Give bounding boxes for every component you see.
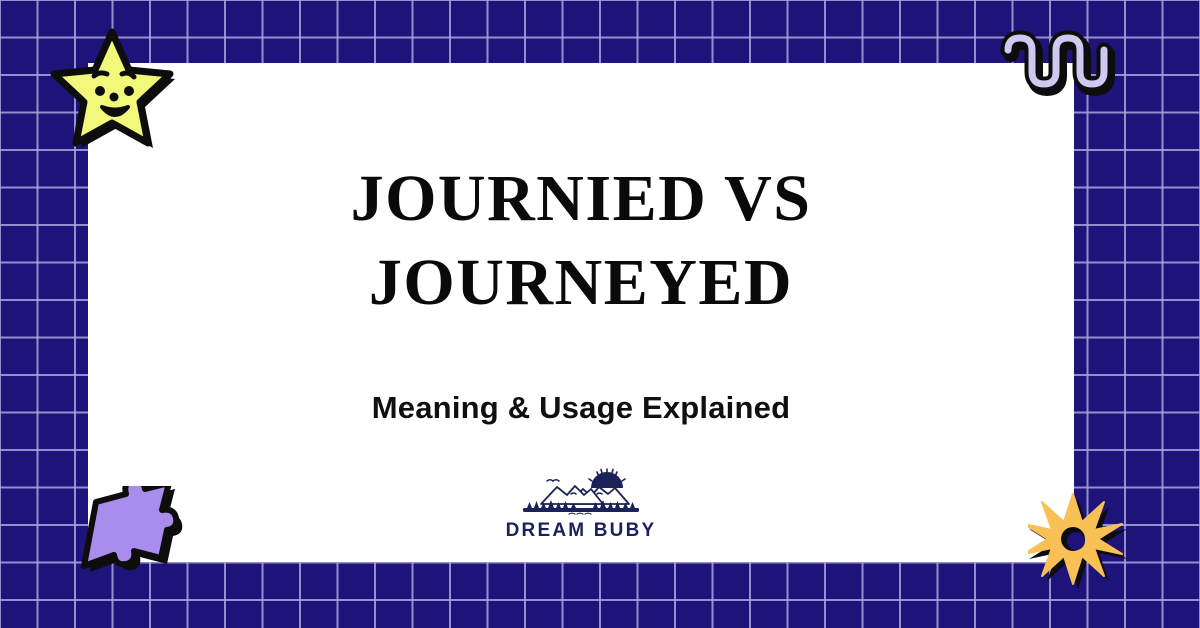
page-subtitle: Meaning & Usage Explained <box>88 390 1074 426</box>
eight-point-burst-icon <box>1028 492 1128 590</box>
brand-logo: DREAM BUBY <box>496 467 666 542</box>
mountain-sunrise-logo-icon <box>511 467 651 519</box>
share-card-canvas: JOURNIED VS JOURNEYED Meaning & Usage Ex… <box>0 0 1200 628</box>
squiggle-wave-icon <box>996 28 1128 96</box>
page-title-line-1: JOURNIED VS <box>88 157 1074 241</box>
puzzle-piece-icon <box>74 486 188 590</box>
page-title-line-2: JOURNEYED <box>88 241 1074 325</box>
brand-name: DREAM BUBY <box>496 520 666 542</box>
content-card: JOURNIED VS JOURNEYED Meaning & Usage Ex… <box>88 63 1074 562</box>
page-title: JOURNIED VS JOURNEYED <box>88 157 1074 325</box>
star-face-icon <box>48 24 178 152</box>
